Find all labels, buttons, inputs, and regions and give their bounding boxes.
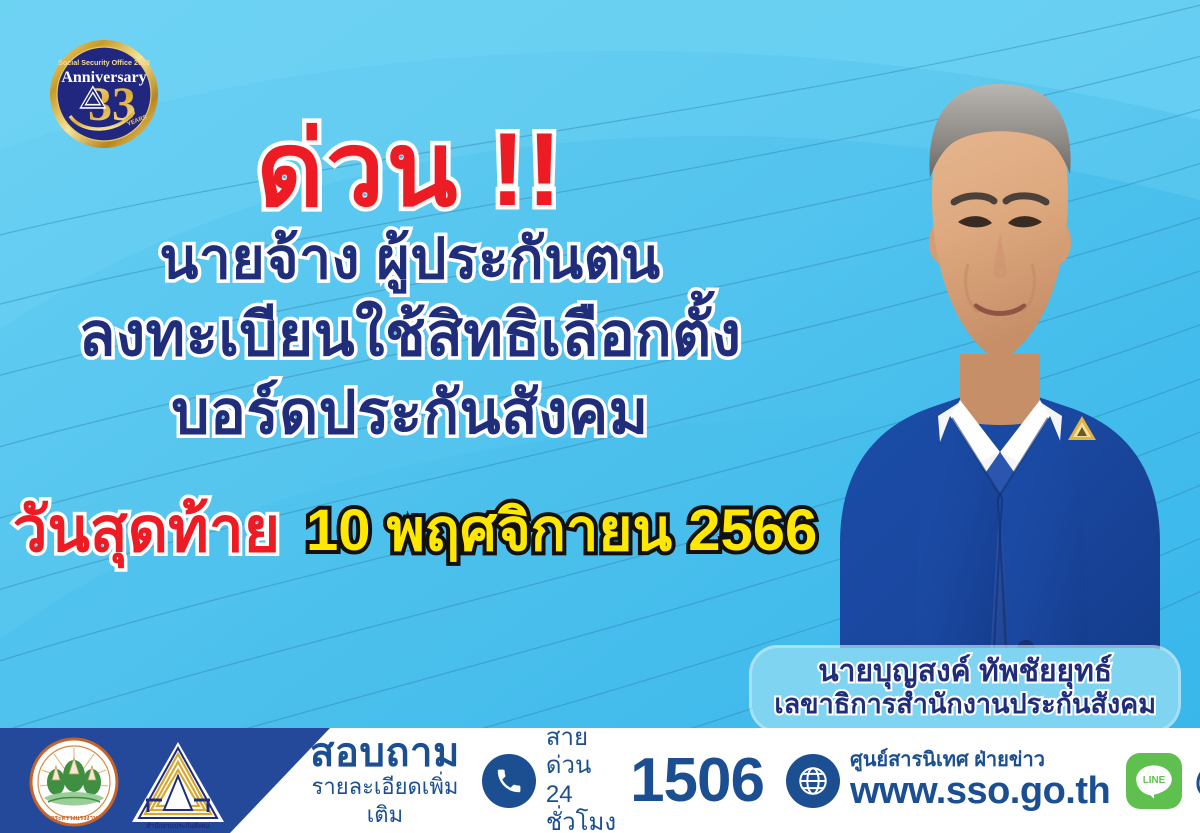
headline-line-1: นายจ้าง ผู้ประกันตน bbox=[0, 222, 820, 296]
badge-top-text: Social Security Office 2023 bbox=[58, 58, 150, 67]
person-title: เลขาธิการสำนักงานประกันสังคม bbox=[774, 689, 1156, 721]
inquiry-block: สอบถาม รายละเอียดเพิ่มเติม bbox=[310, 733, 460, 828]
deadline-date: 10 พฤศจิกายน 2566 bbox=[306, 502, 817, 560]
nameplate: นายบุญสงค์ ทัพชัยยุทธ์ เลขาธิการสำนักงาน… bbox=[752, 648, 1178, 730]
headline-line-3: บอร์ดประกันสังคม bbox=[0, 374, 820, 452]
poster-canvas: Social Security Office 2023 Anniversary … bbox=[0, 0, 1200, 833]
ministry-of-labour-logo-icon: กระทรวงแรงงาน bbox=[28, 736, 120, 828]
hotline-number[interactable]: 1506 bbox=[630, 750, 764, 812]
lastday-label: วันสุดท้าย bbox=[13, 500, 280, 562]
inquiry-subtitle: รายละเอียดเพิ่มเติม bbox=[310, 773, 460, 828]
line-badge-text: LINE bbox=[1143, 775, 1166, 786]
person-name: นายบุญสงค์ ทัพชัยยุทธ์ bbox=[774, 654, 1156, 689]
headline-block: ด่วน !! นายจ้าง ผู้ประกันตน ลงทะเบียนใช้… bbox=[0, 118, 820, 452]
line-app-icon[interactable]: LINE bbox=[1126, 753, 1182, 809]
footer-contact-bar: กระทรวงแรงงาน สำนักงานประกันสังคม สอบถาม… bbox=[0, 728, 1200, 833]
urgent-heading: ด่วน !! bbox=[0, 118, 820, 222]
deadline-row: วันสุดท้าย 10 พฤศจิกายน 2566 bbox=[0, 500, 830, 562]
headline-line-2: ลงทะเบียนใช้สิทธิเลือกตั้ง bbox=[0, 296, 820, 374]
hotline-line-2: 24 ชั่วโมง bbox=[546, 781, 616, 833]
globe-icon[interactable] bbox=[786, 754, 840, 808]
sso-logo-icon: สำนักงานประกันสังคม bbox=[128, 738, 228, 830]
ministry-caption: กระทรวงแรงงาน bbox=[51, 815, 98, 822]
phone-icon[interactable] bbox=[482, 754, 536, 808]
sso-caption: สำนักงานประกันสังคม bbox=[146, 822, 209, 830]
website-label: ศูนย์สารนิเทศ ฝ่ายข่าว bbox=[850, 749, 1110, 771]
website-block: ศูนย์สารนิเทศ ฝ่ายข่าว www.sso.go.th bbox=[850, 749, 1110, 813]
contact-row: สอบถาม รายละเอียดเพิ่มเติม สายด่วน 24 ชั… bbox=[300, 728, 1200, 833]
hotline-line-1: สายด่วน bbox=[546, 724, 616, 781]
portrait-photo bbox=[800, 24, 1200, 724]
line-id[interactable]: @ssothai bbox=[1194, 759, 1200, 802]
inquiry-title: สอบถาม bbox=[310, 733, 460, 773]
website-url[interactable]: www.sso.go.th bbox=[850, 771, 1110, 813]
hotline-label-block: สายด่วน 24 ชั่วโมง bbox=[546, 724, 616, 833]
